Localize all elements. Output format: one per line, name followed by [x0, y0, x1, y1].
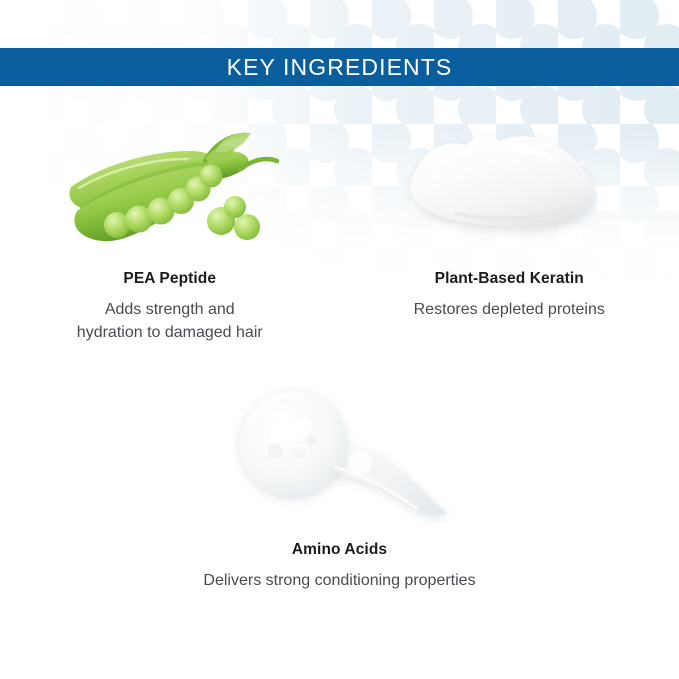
key-ingredients-page: KEY INGREDIENTS [0, 0, 679, 679]
ingredient-row-bottom: Amino Acids Delivers strong conditioning… [0, 375, 679, 595]
ingredient-description: Delivers strong conditioning properties [203, 569, 475, 592]
ingredient-name: Plant-Based Keratin [435, 270, 584, 289]
gel-droplet-image [129, 375, 550, 535]
ingredient-description: Adds strength and hydration to damaged h… [77, 298, 263, 344]
ingredient-name: PEA Peptide [123, 270, 216, 289]
ingredient-row-top: PEA Peptide Adds strength and hydration … [0, 110, 679, 360]
ingredient-card-plant-based-keratin: Plant-Based Keratin Restores depleted pr… [340, 110, 679, 360]
ingredient-name: Amino Acids [292, 541, 387, 560]
ingredient-card-amino-acids: Amino Acids Delivers strong conditioning… [129, 375, 550, 595]
ingredient-description: Restores depleted proteins [414, 298, 605, 321]
pea-pod-image [0, 110, 340, 260]
cream-swatch-image [340, 110, 679, 260]
banner-title: KEY INGREDIENTS [227, 56, 453, 79]
key-ingredients-banner: KEY INGREDIENTS [0, 48, 679, 86]
ingredient-card-pea-peptide: PEA Peptide Adds strength and hydration … [0, 110, 340, 360]
